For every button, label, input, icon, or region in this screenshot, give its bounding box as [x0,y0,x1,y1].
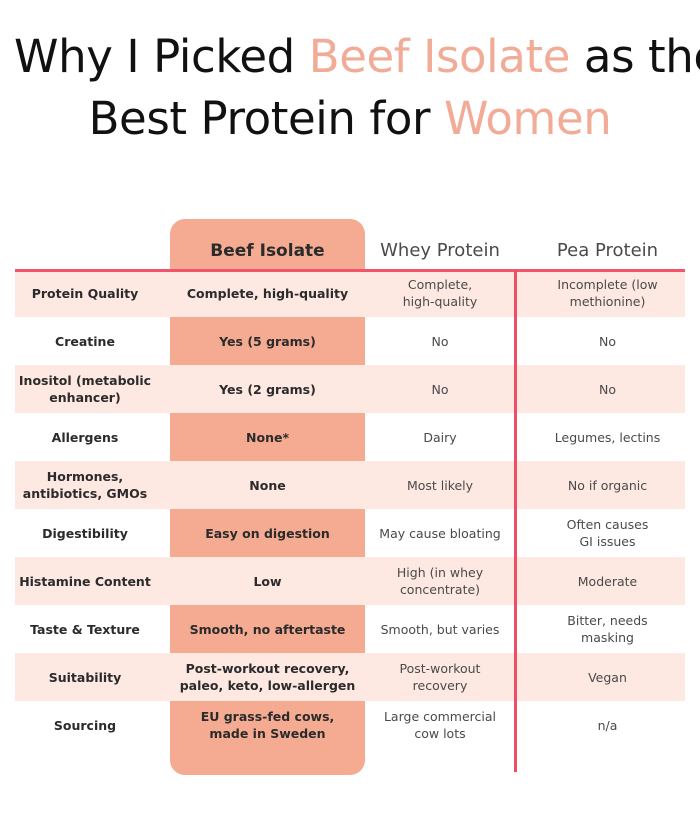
cell-text: Sourcing [54,717,116,734]
cell-pea: No [515,365,700,413]
cell-attribute: Suitability [0,653,170,701]
table-row: AllergensNone*DairyLegumes, lectins [0,413,700,461]
cell-text: Bitter, needs masking [567,612,647,646]
table-row: Taste & TextureSmooth, no aftertasteSmoo… [0,605,700,653]
cell-text: Taste & Texture [30,621,140,638]
cell-pea: No if organic [515,461,700,509]
cell-text: Yes (5 grams) [219,333,316,350]
cell-beef: Smooth, no aftertaste [170,605,365,653]
cell-text: Complete, high-quality [187,285,348,302]
cell-pea: Vegan [515,653,700,701]
column-header-label: Beef Isolate [210,241,324,261]
cell-attribute: Protein Quality [0,269,170,317]
table-row: DigestibilityEasy on digestionMay cause … [0,509,700,557]
cell-text: Legumes, lectins [555,429,660,446]
table-row: SuitabilityPost-workout recovery, paleo,… [0,653,700,701]
title-line-1-pre: Why I Picked [14,30,309,83]
cell-text: No [599,333,616,350]
title-line-1-accent: Beef Isolate [309,30,570,83]
cell-whey: Dairy [365,413,515,461]
cell-pea: No [515,317,700,365]
column-header-label: Pea Protein [557,240,658,261]
cell-beef: Low [170,557,365,605]
cell-beef: EU grass-fed cows, made in Sweden [170,701,365,749]
cell-text: None [249,477,285,494]
table-header-row: Beef IsolateWhey ProteinPea Protein [0,205,700,269]
cell-text: Digestibility [42,525,128,542]
cell-text: Low [253,573,281,590]
cell-text: Large commercial cow lots [384,708,496,742]
cell-text: No if organic [568,477,647,494]
cell-text: Inositol (metabolic enhancer) [19,372,151,406]
cell-text: May cause bloating [379,525,500,542]
cell-text: No [599,381,616,398]
cell-text: Yes (2 grams) [219,381,316,398]
cell-whey: Complete, high-quality [365,269,515,317]
cell-text: Moderate [578,573,637,590]
cell-text: Smooth, no aftertaste [190,621,346,638]
cell-text: Most likely [407,477,473,494]
cell-text: Creatine [55,333,115,350]
cell-beef: Easy on digestion [170,509,365,557]
table-row: CreatineYes (5 grams)NoNo [0,317,700,365]
cell-text: Post-workout recovery, paleo, keto, low-… [180,660,356,694]
cell-pea: Moderate [515,557,700,605]
cell-attribute: Allergens [0,413,170,461]
cell-whey: Most likely [365,461,515,509]
title-line-1: Why I Picked Beef Isolate as the [14,26,686,88]
header-rule [15,269,685,272]
cell-text: Vegan [588,669,627,686]
comparison-table: Beef IsolateWhey ProteinPea ProteinProte… [0,205,700,805]
cell-pea: Incomplete (low methionine) [515,269,700,317]
cell-text: Post-workout recovery [400,660,481,694]
cell-whey: Post-workout recovery [365,653,515,701]
cell-attribute: Sourcing [0,701,170,749]
cell-attribute: Taste & Texture [0,605,170,653]
cell-text: Hormones, antibiotics, GMOs [23,468,147,502]
cell-text: EU grass-fed cows, made in Sweden [201,708,335,742]
cell-text: Often causes GI issues [567,516,649,550]
cell-text: Histamine Content [19,573,151,590]
cell-attribute: Creatine [0,317,170,365]
cell-text: Smooth, but varies [381,621,500,638]
cell-pea: n/a [515,701,700,749]
table-row: SourcingEU grass-fed cows, made in Swede… [0,701,700,749]
cell-whey: Large commercial cow lots [365,701,515,749]
title-line-2-pre: Best Protein for [89,92,444,145]
cell-pea: Often causes GI issues [515,509,700,557]
table-row: Inositol (metabolic enhancer)Yes (2 gram… [0,365,700,413]
cell-pea: Bitter, needs masking [515,605,700,653]
cell-whey: May cause bloating [365,509,515,557]
cell-text: Protein Quality [32,285,139,302]
cell-text: Easy on digestion [205,525,330,542]
table-row: Protein QualityComplete, high-qualityCom… [0,269,700,317]
cell-beef: Yes (2 grams) [170,365,365,413]
cell-text: n/a [598,717,618,734]
title-line-2: Best Protein for Women [14,88,686,150]
column-header-whey: Whey Protein [365,205,515,269]
cell-text: None* [246,429,289,446]
cell-whey: No [365,317,515,365]
page-title: Why I Picked Beef Isolate as the Best Pr… [0,0,700,150]
cell-attribute: Digestibility [0,509,170,557]
title-line-1-post: as the [570,30,700,83]
cell-beef: Post-workout recovery, paleo, keto, low-… [170,653,365,701]
cell-text: Dairy [423,429,456,446]
cell-text: Complete, high-quality [403,276,478,310]
cell-text: No [432,333,449,350]
table-row: Hormones, antibiotics, GMOsNoneMost like… [0,461,700,509]
cell-whey: Smooth, but varies [365,605,515,653]
cell-whey: High (in whey concentrate) [365,557,515,605]
cell-pea: Legumes, lectins [515,413,700,461]
cell-beef: None* [170,413,365,461]
cell-text: High (in whey concentrate) [397,564,483,598]
cell-text: Incomplete (low methionine) [557,276,657,310]
cell-beef: None [170,461,365,509]
column-header-pea: Pea Protein [515,205,700,269]
column-header-attribute [0,205,170,269]
column-header-label: Whey Protein [380,240,500,261]
cell-text: No [432,381,449,398]
cell-attribute: Hormones, antibiotics, GMOs [0,461,170,509]
cell-beef: Yes (5 grams) [170,317,365,365]
cell-whey: No [365,365,515,413]
cell-attribute: Inositol (metabolic enhancer) [0,365,170,413]
title-line-2-accent: Women [444,92,611,145]
cell-text: Suitability [49,669,122,686]
cell-text: Allergens [52,429,119,446]
column-divider [514,270,517,772]
cell-attribute: Histamine Content [0,557,170,605]
table-row: Histamine ContentLowHigh (in whey concen… [0,557,700,605]
cell-beef: Complete, high-quality [170,269,365,317]
column-header-beef: Beef Isolate [170,205,365,269]
